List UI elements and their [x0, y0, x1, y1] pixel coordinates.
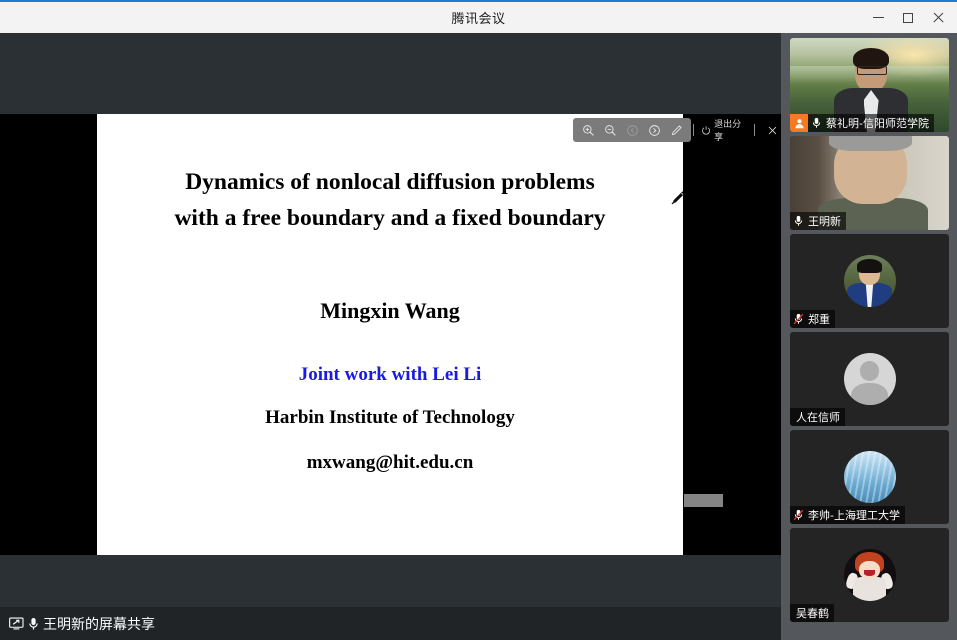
mic-icon [794, 215, 803, 227]
avatar [844, 451, 896, 503]
close-icon [932, 12, 944, 24]
share-toolbar [573, 118, 691, 142]
screen-share-icon [9, 617, 24, 630]
avatar-art [844, 451, 896, 503]
mic-muted-icon [793, 313, 804, 325]
participant-nameplate: 郑重 [790, 310, 835, 328]
slide-content: Dynamics of nonlocal diffusion problems … [97, 114, 683, 474]
pen-cursor-icon [670, 190, 686, 206]
participant-name: 郑重 [806, 311, 830, 327]
participant-tile[interactable]: 李帅-上海理工大学 [790, 430, 949, 524]
zoom-in-icon [582, 124, 595, 137]
participant-filmstrip[interactable]: 蔡礼明-信阳师范学院 [781, 33, 957, 640]
participant-tile[interactable]: 郑重 [790, 234, 949, 328]
slide-email: mxwang@hit.edu.cn [97, 452, 683, 474]
avatar [844, 255, 896, 307]
next-page-icon [648, 124, 661, 137]
slide-title: Dynamics of nonlocal diffusion problems … [97, 164, 683, 236]
shared-screen-stage: Dynamics of nonlocal diffusion problems … [0, 33, 781, 640]
mic-icon [812, 117, 821, 129]
minimize-icon [873, 17, 884, 18]
exit-share-label: 退出分享 [714, 117, 747, 143]
maximize-button[interactable] [893, 5, 923, 31]
mic-status-icon [790, 506, 806, 524]
participant-nameplate: 吴春鹤 [790, 604, 834, 622]
participant-tile[interactable]: 蔡礼明-信阳师范学院 [790, 38, 949, 132]
share-status-bar: 王明新的屏幕共享 [0, 607, 781, 640]
mic-status-icon [790, 212, 806, 230]
power-icon [701, 125, 711, 136]
close-icon [767, 125, 778, 136]
zoom-in-button[interactable] [577, 119, 599, 141]
mic-status-icon [790, 310, 806, 328]
slide-joint-work: Joint work with Lei Li [97, 364, 683, 386]
share-status-label: 王明新的屏幕共享 [43, 614, 155, 634]
participant-name: 人在信师 [790, 409, 840, 425]
mic-status-icon [808, 114, 824, 132]
mic-muted-icon [793, 509, 804, 521]
toolbar-divider-2 [754, 124, 755, 136]
tencent-meeting-window: 腾讯会议 Dynamics of nonlocal diffusion prob… [0, 0, 957, 640]
participant-nameplate: 王明新 [790, 212, 846, 230]
annotate-button[interactable] [665, 119, 687, 141]
host-badge [790, 114, 808, 132]
participant-name: 王明新 [806, 213, 841, 229]
close-button[interactable] [923, 5, 953, 31]
exit-share-button[interactable]: 退出分享 [699, 117, 749, 143]
share-toolbar-right-group: 退出分享 [688, 118, 781, 142]
shared-slide: Dynamics of nonlocal diffusion problems … [97, 114, 683, 555]
window-title: 腾讯会议 [0, 8, 957, 27]
toolbar-divider [693, 124, 694, 136]
slide-author: Mingxin Wang [97, 298, 683, 324]
avatar-art [844, 353, 896, 405]
participant-name: 吴春鹤 [790, 605, 829, 621]
zoom-out-icon [604, 124, 617, 137]
window-controls [863, 2, 953, 33]
avatar-art [844, 255, 896, 307]
minimize-button[interactable] [863, 5, 893, 31]
participant-nameplate: 蔡礼明-信阳师范学院 [790, 114, 934, 132]
titlebar: 腾讯会议 [0, 0, 957, 33]
participant-tile[interactable]: 王明新 [790, 136, 949, 230]
zoom-out-button[interactable] [599, 119, 621, 141]
avatar [844, 353, 896, 405]
pen-icon [670, 124, 683, 137]
host-person-icon [794, 118, 805, 129]
share-status-group: 王明新的屏幕共享 [0, 614, 155, 634]
mic-icon [28, 617, 39, 631]
avatar-art [844, 549, 896, 601]
participant-tile[interactable]: 人在信师 [790, 332, 949, 426]
participant-nameplate: 人在信师 [790, 408, 845, 426]
participant-name: 蔡礼明-信阳师范学院 [824, 115, 929, 131]
avatar [844, 549, 896, 601]
close-share-toolbar-button[interactable] [764, 121, 781, 139]
slide-title-line2: with a free boundary and a fixed boundar… [97, 200, 683, 236]
shared-content-scrollbar-thumb[interactable] [684, 494, 723, 507]
participant-name: 李帅-上海理工大学 [806, 507, 900, 523]
maximize-icon [903, 13, 913, 23]
previous-page-button[interactable] [621, 119, 643, 141]
slide-title-line1: Dynamics of nonlocal diffusion problems [97, 164, 683, 200]
participant-nameplate: 李帅-上海理工大学 [790, 506, 905, 524]
prev-page-icon [626, 124, 639, 137]
participant-tile[interactable]: 吴春鹤 [790, 528, 949, 622]
next-page-button[interactable] [643, 119, 665, 141]
slide-affiliation: Harbin Institute of Technology [97, 407, 683, 429]
